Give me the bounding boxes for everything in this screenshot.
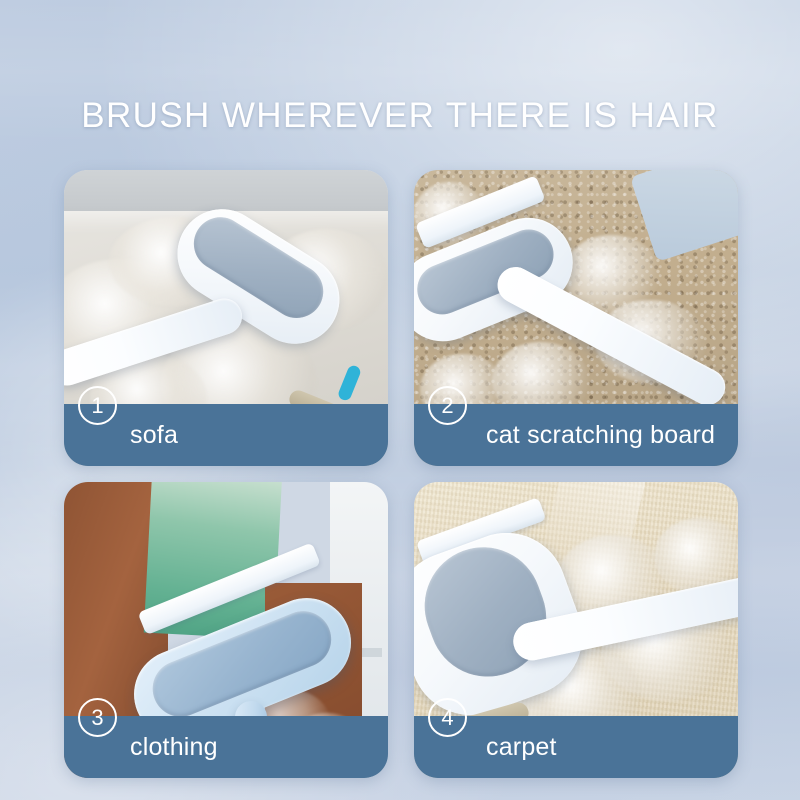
feature-card-clothing[interactable]: 3 clothing — [64, 482, 388, 778]
caption-label: clothing — [130, 733, 218, 762]
promo-page: BRUSH WHEREVER THERE IS HAIR 1 sofa — [0, 0, 800, 800]
caption-bar: 3 clothing — [64, 716, 388, 778]
feature-card-sofa[interactable]: 1 sofa — [64, 170, 388, 466]
feature-card-cat-scratching-board[interactable]: 2 cat scratching board — [414, 170, 738, 466]
caption-label: carpet — [486, 733, 557, 762]
feature-card-carpet[interactable]: 4 carpet — [414, 482, 738, 778]
caption-bar: 2 cat scratching board — [414, 404, 738, 466]
step-number-badge: 2 — [428, 386, 467, 425]
caption-bar: 1 sofa — [64, 404, 388, 466]
page-title: BRUSH WHEREVER THERE IS HAIR — [0, 96, 800, 136]
caption-label: cat scratching board — [486, 421, 715, 450]
caption-label: sofa — [130, 421, 178, 450]
step-number-badge: 1 — [78, 386, 117, 425]
caption-bar: 4 carpet — [414, 716, 738, 778]
step-number-badge: 4 — [428, 698, 467, 737]
step-number-badge: 3 — [78, 698, 117, 737]
